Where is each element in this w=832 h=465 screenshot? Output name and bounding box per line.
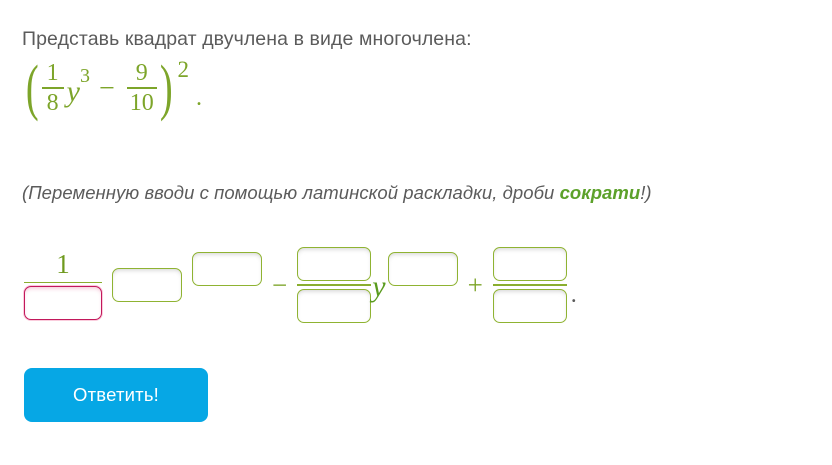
exercise-page: Представь квадрат двучлена в виде многоч… [0,0,832,465]
fraction-numerator: 1 [44,61,62,85]
fraction-bar [42,87,64,89]
hint-text-after: !) [640,182,651,203]
answer-fraction-3 [493,247,567,322]
hint-text-before: (Переменную вводи с помощью латинской ра… [22,182,560,203]
open-paren: ( [26,62,39,115]
answer-expression-row: 1 − y + . [24,237,577,333]
question-outer-exponent: 2 [177,57,189,83]
fraction-bar [127,87,157,89]
answer-fraction-3-numerator-input[interactable] [493,247,567,281]
question-expression: ( 1 8 y 3 − 9 10 ) 2 . [22,56,202,120]
answer-variable-y: y [372,270,385,304]
fraction-denominator: 10 [127,91,157,115]
answer-fraction-2 [297,247,371,322]
answer-fraction-2-numerator-input[interactable] [297,247,371,281]
answer-fraction-1-denominator-input[interactable] [24,286,102,320]
answer-fraction-2-denominator-input[interactable] [297,289,371,323]
answer-minus-operator: − [272,272,287,299]
question-fraction-one-eighth: 1 8 [42,61,64,115]
answer-fraction-3-denominator-input[interactable] [493,289,567,323]
question-minus-operator: − [99,73,115,105]
submit-answer-button[interactable]: Ответить! [24,368,208,422]
answer-fraction-1-numerator: 1 [56,250,70,279]
question-fraction-nine-tenths: 9 10 [127,61,157,115]
question-trailing-period: . [196,85,202,112]
question-variable-exponent: 3 [80,65,90,88]
answer-plus-operator: + [468,272,483,299]
fraction-denominator: 8 [44,91,62,115]
fraction-numerator: 9 [133,61,151,85]
fraction-bar [297,284,371,285]
fraction-bar [493,284,567,285]
answer-exponent-input[interactable] [192,252,262,286]
answer-coefficient-input[interactable] [112,268,182,302]
fraction-bar [24,282,102,283]
question-variable-y: y [67,75,80,109]
task-prompt: Представь квадрат двучлена в виде многоч… [22,26,472,52]
answer-fraction-1: 1 [24,250,102,320]
answer-variable-exponent-input[interactable] [388,252,458,286]
answer-trailing-period: . [571,282,577,309]
hint-accent-word: сократи [560,182,641,203]
close-paren: ) [160,62,173,115]
input-hint: (Переменную вводи с помощью латинской ра… [22,182,652,204]
